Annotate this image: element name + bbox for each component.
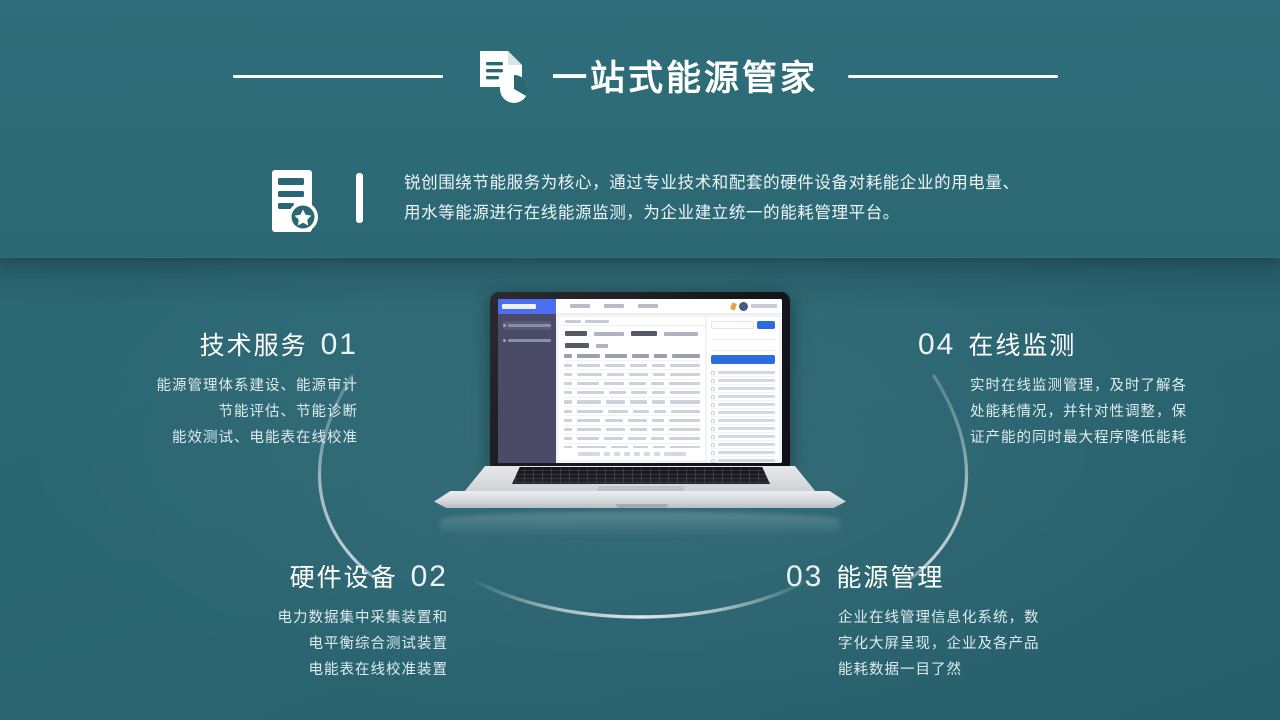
- feature-number-03: 03: [786, 560, 823, 594]
- list-item[interactable]: [711, 385, 775, 393]
- search-button[interactable]: [757, 321, 775, 329]
- dashboard-main: [556, 314, 782, 463]
- filter-bar[interactable]: [559, 326, 705, 352]
- data-table[interactable]: [559, 352, 705, 448]
- search-row[interactable]: [711, 321, 775, 329]
- feature-desc-line: 能耗数据一目了然: [838, 657, 1190, 683]
- table-row[interactable]: [564, 398, 700, 407]
- dashboard-topbar: [498, 299, 782, 314]
- intro-paragraph: 锐创围绕节能服务为核心，通过专业技术和配套的硬件设备对耗能企业的用电量、 用水等…: [404, 168, 1204, 228]
- list-item[interactable]: [711, 377, 775, 385]
- table-row[interactable]: [564, 407, 700, 416]
- header-divider-left: [233, 75, 443, 78]
- sidebar-item-2[interactable]: [503, 336, 551, 345]
- list-item[interactable]: [711, 425, 775, 433]
- feature-desc-line: 字化大屏呈现，企业及各产品: [838, 631, 1190, 657]
- list-item[interactable]: [711, 433, 775, 441]
- avatar[interactable]: [739, 302, 748, 311]
- feature-desc-line: 企业在线管理信息化系统，数: [838, 605, 1190, 631]
- list-item[interactable]: [711, 441, 775, 449]
- list-item[interactable]: [711, 401, 775, 409]
- feature-desc-line: 实时在线监测管理，及时了解各: [970, 373, 1280, 399]
- laptop-base: [420, 466, 860, 512]
- dashboard-user-area[interactable]: [731, 302, 782, 311]
- feature-title-03: 03 能源管理: [786, 558, 1190, 594]
- table-row[interactable]: [564, 426, 700, 435]
- feature-desc-line: 电平衡综合测试装置: [0, 631, 448, 657]
- list-item[interactable]: [711, 409, 775, 417]
- laptop-reflection: [440, 512, 840, 538]
- page-title: 一站式能源管家: [552, 50, 818, 101]
- slide-canvas: 一站式能源管家 锐创围绕节能服务为核心，通过专业技术和配套的硬件设备对耗能企业的…: [0, 0, 1280, 720]
- laptop-screen: [498, 299, 782, 463]
- intro-divider-bar: [356, 173, 363, 223]
- dashboard-content: [559, 317, 705, 460]
- feature-desc-04: 实时在线监测管理，及时了解各 处能耗情况，并针对性调整，保 证产能的同时最大程序…: [970, 373, 1280, 451]
- edit-pen-icon[interactable]: [730, 302, 737, 310]
- feature-name-04: 在线监测: [968, 326, 1076, 362]
- dashboard-logo: [498, 299, 556, 314]
- filter-field-1[interactable]: [711, 333, 775, 340]
- feature-name-02: 硬件设备: [290, 558, 398, 594]
- feature-desc-line: 能效测试、电能表在线校准: [0, 425, 358, 451]
- laptop-lid: [490, 292, 790, 472]
- table-row[interactable]: [564, 416, 700, 425]
- laptop-notch: [616, 504, 668, 508]
- dashboard-nav[interactable]: [556, 304, 731, 308]
- search-input[interactable]: [711, 321, 754, 329]
- feature-name-03: 能源管理: [836, 558, 944, 594]
- list-item[interactable]: [711, 393, 775, 401]
- feature-number-01: 01: [321, 328, 358, 362]
- feature-desc-line: 电力数据集中采集装置和: [0, 605, 448, 631]
- laptop-mockup: [420, 292, 860, 532]
- username-label: [751, 304, 777, 308]
- breadcrumb[interactable]: [559, 317, 705, 326]
- feature-block-02: 硬件设备 02 电力数据集中采集装置和 电平衡综合测试装置 电能表在线校准装置: [0, 558, 510, 683]
- list-item[interactable]: [711, 417, 775, 425]
- table-row[interactable]: [564, 435, 700, 444]
- feature-desc-03: 企业在线管理信息化系统，数 字化大屏呈现，企业及各产品 能耗数据一目了然: [838, 605, 1190, 683]
- feature-desc-line: 电能表在线校准装置: [0, 657, 448, 683]
- table-header-row: [564, 352, 700, 361]
- list-item[interactable]: [711, 457, 775, 463]
- feature-title-02: 硬件设备 02: [0, 558, 448, 594]
- dashboard-sidebar[interactable]: [498, 314, 556, 463]
- feature-name-01: 技术服务: [200, 326, 308, 362]
- list-item[interactable]: [711, 449, 775, 457]
- intro-line-2: 用水等能源进行在线能源监测，为企业建立统一的能耗管理平台。: [404, 198, 1204, 228]
- feature-desc-01: 能源管理体系建设、能源审计 节能评估、节能诊断 能效测试、电能表在线校准: [0, 373, 358, 451]
- sidebar-item-1[interactable]: [503, 321, 551, 330]
- feature-number-02: 02: [411, 560, 448, 594]
- feature-desc-line: 处能耗情况，并针对性调整，保: [970, 399, 1280, 425]
- dashboard-side-panel: [707, 317, 779, 460]
- list-item[interactable]: [711, 369, 775, 377]
- feature-block-01: 技术服务 01 能源管理体系建设、能源审计 节能评估、节能诊断 能效测试、电能表…: [0, 326, 390, 451]
- feature-desc-line: 节能评估、节能诊断: [0, 399, 358, 425]
- table-row[interactable]: [564, 370, 700, 379]
- feature-number-04: 04: [918, 328, 955, 362]
- intro-line-1: 锐创围绕节能服务为核心，通过专业技术和配套的硬件设备对耗能企业的用电量、: [404, 168, 1204, 198]
- document-chart-icon: [474, 48, 536, 110]
- feature-title-01: 技术服务 01: [0, 326, 358, 362]
- feature-desc-line: 能源管理体系建设、能源审计: [0, 373, 358, 399]
- pagination[interactable]: [559, 448, 705, 460]
- table-row[interactable]: [564, 389, 700, 398]
- header-divider-right: [848, 75, 1058, 78]
- primary-action-button[interactable]: [711, 355, 775, 364]
- filter-field-2[interactable]: [711, 344, 775, 351]
- keyboard: [512, 467, 770, 484]
- dashboard-body: [498, 314, 782, 463]
- feature-desc-02: 电力数据集中采集装置和 电平衡综合测试装置 电能表在线校准装置: [0, 605, 448, 683]
- document-star-icon: [268, 168, 326, 236]
- feature-title-04: 04 在线监测: [918, 326, 1280, 362]
- table-row[interactable]: [564, 380, 700, 389]
- feature-block-04: 04 在线监测 实时在线监测管理，及时了解各 处能耗情况，并针对性调整，保 证产…: [900, 326, 1280, 451]
- table-row[interactable]: [564, 361, 700, 370]
- feature-block-03: 03 能源管理 企业在线管理信息化系统，数 字化大屏呈现，企业及各产品 能耗数据…: [770, 558, 1190, 683]
- feature-desc-line: 证产能的同时最大程序降低能耗: [970, 425, 1280, 451]
